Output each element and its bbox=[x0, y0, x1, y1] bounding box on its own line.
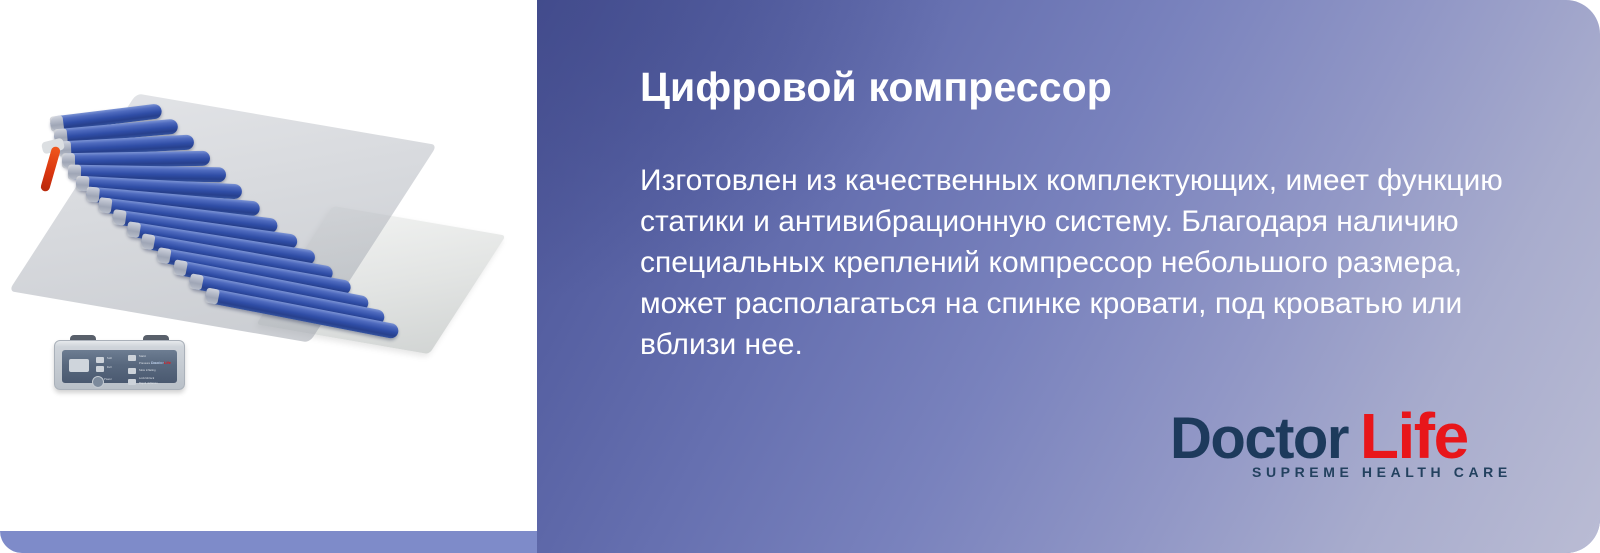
compressor-brand-primary: Doctor bbox=[151, 360, 164, 365]
compressor-button-soft bbox=[96, 357, 104, 363]
compressor-button-static bbox=[128, 355, 136, 361]
description-panel: Цифровой компрессор Изготовлен из качест… bbox=[537, 0, 1600, 553]
page-title: Цифровой компрессор bbox=[640, 64, 1112, 111]
compressor-button-slow-inflating bbox=[128, 368, 136, 374]
compressor-control-panel: Soft Full Power Static Pressure control … bbox=[62, 350, 177, 383]
compressor-label-soft: Soft bbox=[107, 358, 112, 361]
compressor-label-power: Power bbox=[104, 379, 112, 382]
description-content: Цифровой компрессор Изготовлен из качест… bbox=[640, 0, 1600, 553]
compressor-display bbox=[69, 359, 89, 372]
brand-word-doctor: Doctor bbox=[1170, 406, 1348, 471]
brand-word-life: Life bbox=[1360, 400, 1468, 472]
compressor-button-full bbox=[96, 366, 104, 372]
product-photo: Soft Full Power Static Pressure control … bbox=[0, 0, 537, 531]
compressor-brand-accent: Life bbox=[164, 360, 171, 365]
compressor-body: Soft Full Power Static Pressure control … bbox=[54, 340, 185, 390]
compressor-pressure-dial bbox=[92, 376, 104, 388]
promo-banner: Soft Full Power Static Pressure control … bbox=[0, 0, 1600, 553]
brand-tagline: SUPREME HEALTH CARE bbox=[1252, 464, 1512, 480]
compressor-unit: Soft Full Power Static Pressure control … bbox=[54, 340, 185, 390]
compressor-label-full: Full bbox=[107, 367, 112, 370]
air-mattress-illustration bbox=[28, 88, 478, 356]
description-text: Изготовлен из качественных комплектующих… bbox=[640, 160, 1510, 365]
brand-wordmark: DoctorLife bbox=[1170, 404, 1468, 468]
brand-logo: DoctorLife SUPREME HEALTH CARE bbox=[1170, 404, 1530, 499]
compressor-brand-logo: DoctorLife bbox=[151, 360, 171, 365]
card-bottom-strip bbox=[0, 531, 537, 553]
compressor-label-lock: Lock/Unlock bbox=[139, 378, 154, 381]
product-image-card: Soft Full Power Static Pressure control … bbox=[0, 0, 537, 531]
compressor-label-slow-inflating: Slow inflating bbox=[139, 370, 156, 373]
compressor-label-static: Static bbox=[139, 356, 146, 359]
compressor-button-lock bbox=[128, 379, 136, 385]
compressor-label-rapid-deflation: Rapid deflation bbox=[139, 383, 158, 386]
